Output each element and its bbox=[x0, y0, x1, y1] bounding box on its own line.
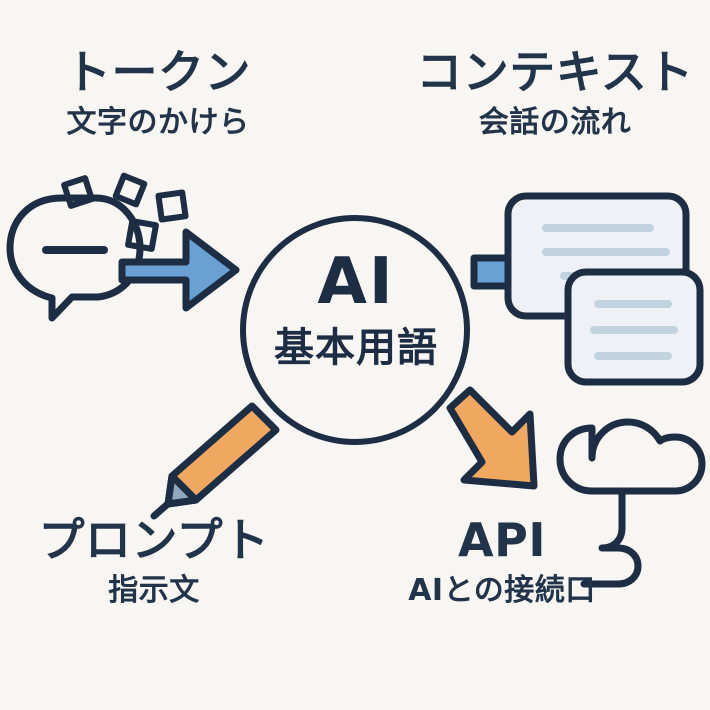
center-label-sub: 基本用語 bbox=[243, 328, 469, 368]
label-api-term: API bbox=[352, 516, 652, 565]
token-square-2 bbox=[116, 176, 145, 205]
speech-bubble-with-token-squares-icon bbox=[10, 176, 186, 318]
label-api: API AIとの接続口 bbox=[352, 516, 652, 607]
label-token-description: 文字のかけら bbox=[8, 107, 308, 139]
label-api-description: AIとの接続口 bbox=[352, 575, 652, 607]
center-label: AI 基本用語 bbox=[243, 250, 469, 368]
orange-arrow-down-right bbox=[450, 390, 534, 486]
label-prompt: プロンプト 指示文 bbox=[4, 516, 304, 607]
chat-cards-icon bbox=[508, 196, 700, 382]
label-context: コンテキスト 会話の流れ bbox=[402, 48, 708, 139]
label-context-description: 会話の流れ bbox=[402, 107, 708, 139]
label-token: トークン 文字のかけら bbox=[8, 48, 308, 139]
center-label-main: AI bbox=[243, 250, 469, 314]
label-prompt-description: 指示文 bbox=[4, 575, 304, 607]
label-token-term: トークン bbox=[8, 48, 308, 97]
pencil-icon bbox=[154, 406, 276, 516]
ai-glossary-infographic: トークン 文字のかけら コンテキスト 会話の流れ プロンプト 指示文 API A… bbox=[0, 0, 710, 710]
label-prompt-term: プロンプト bbox=[4, 516, 304, 565]
token-square-1 bbox=[64, 178, 92, 206]
label-context-term: コンテキスト bbox=[402, 48, 708, 97]
token-square-3 bbox=[158, 192, 185, 219]
